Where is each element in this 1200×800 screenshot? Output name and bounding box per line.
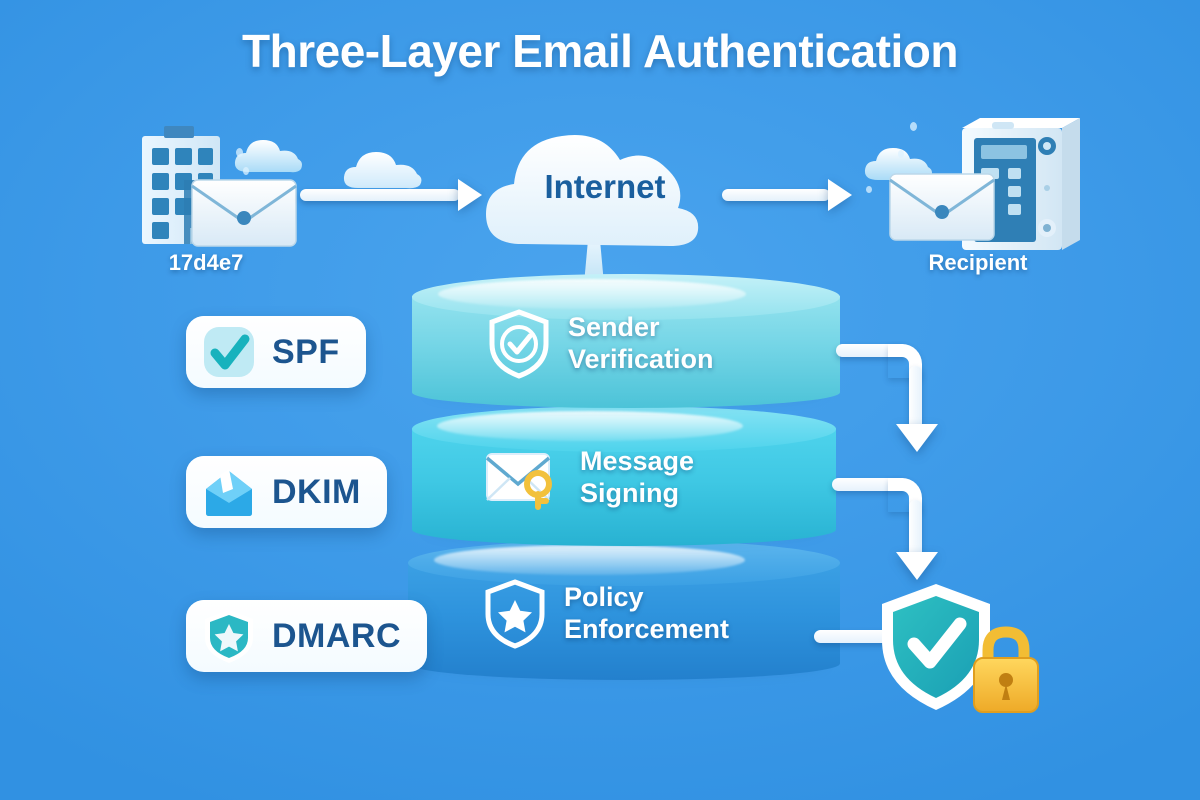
badge-dmarc[interactable]: DMARC <box>186 600 427 672</box>
arrow-internet-to-recipient <box>722 184 852 206</box>
shield-star-icon <box>200 607 258 665</box>
droplet-icon <box>866 186 872 193</box>
internet-label: Internet <box>490 168 720 206</box>
check-mark-icon <box>200 323 258 381</box>
padlock-icon <box>966 624 1046 716</box>
open-envelope-icon <box>200 463 258 521</box>
layer-title-dkim: Message Signing <box>580 446 694 510</box>
badge-label-dmarc: DMARC <box>272 617 401 656</box>
mail-server-envelope-icon <box>884 112 1084 252</box>
layer-content-dkim: Message Signing <box>484 444 694 512</box>
recipient-label: Recipient <box>868 250 1088 276</box>
envelope-key-icon <box>484 444 562 512</box>
office-building-envelope-icon <box>128 118 304 250</box>
badge-spf[interactable]: SPF <box>186 316 366 388</box>
layer-content-dmarc: Policy Enforcement <box>484 578 729 650</box>
shield-check-icon <box>488 308 550 380</box>
badge-label-spf: SPF <box>272 333 340 372</box>
badge-dkim[interactable]: DKIM <box>186 456 387 528</box>
layer-title-spf: Sender Verification <box>568 312 714 376</box>
diagram-canvas: Three-Layer Email Authentication <box>0 0 1200 800</box>
page-title: Three-Layer Email Authentication <box>0 24 1200 78</box>
arrow-sender-to-internet <box>300 184 482 206</box>
layer-content-spf: Sender Verification <box>488 308 714 380</box>
sender-label: 17d4e7 <box>96 250 316 276</box>
badge-label-dkim: DKIM <box>272 473 361 512</box>
shield-star-icon <box>484 578 546 650</box>
layer-title-dmarc: Policy Enforcement <box>564 582 729 646</box>
